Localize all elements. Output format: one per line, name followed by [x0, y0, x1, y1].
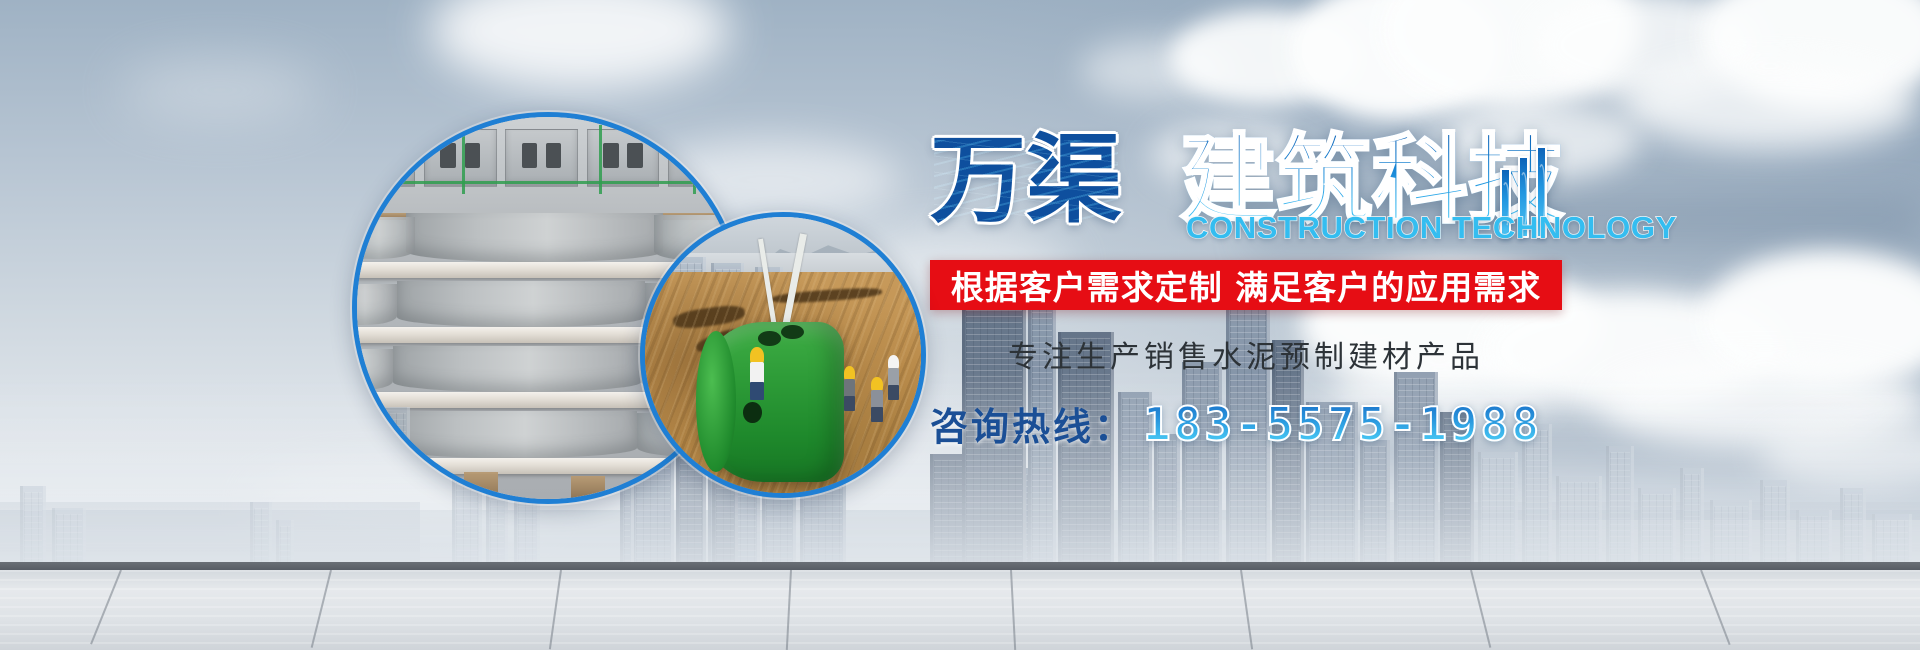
brand-english-subtitle: CONSTRUCTION TECHNOLOGY	[1186, 210, 1677, 246]
worker-figure	[888, 355, 900, 399]
banner-text-block: 万渠 建筑科技 CONSTRUCTION TECHNOLOGY 根据客户需求定制…	[930, 132, 1630, 451]
slogan-red-banner: 根据客户需求定制 满足客户的应用需求	[930, 260, 1562, 310]
cloud-shape	[120, 60, 320, 120]
product-photo-septic-tank	[640, 212, 926, 498]
cloud-shape	[430, 0, 730, 90]
slogan-subtitle: 专注生产销售水泥预制建材产品	[930, 332, 1562, 376]
brand-name-primary: 万渠	[930, 132, 1122, 228]
worker-figure	[750, 347, 764, 399]
plaza-ground	[0, 570, 1920, 650]
hotline-block: 咨询热线： 183-5575-1988	[930, 396, 1630, 451]
slogan-red-text: 根据客户需求定制 满足客户的应用需求	[951, 261, 1542, 309]
worker-figure	[871, 377, 883, 421]
cumulus-cloud	[1620, 60, 1920, 150]
worker-figure	[844, 366, 856, 410]
brand-title: 万渠 建筑科技 CONSTRUCTION TECHNOLOGY	[930, 132, 1630, 236]
hotline-number[interactable]: 183-5575-1988	[1143, 397, 1542, 451]
hotline-label: 咨询热线：	[930, 396, 1135, 451]
promo-banner: 万渠 建筑科技 CONSTRUCTION TECHNOLOGY 根据客户需求定制…	[0, 0, 1920, 650]
